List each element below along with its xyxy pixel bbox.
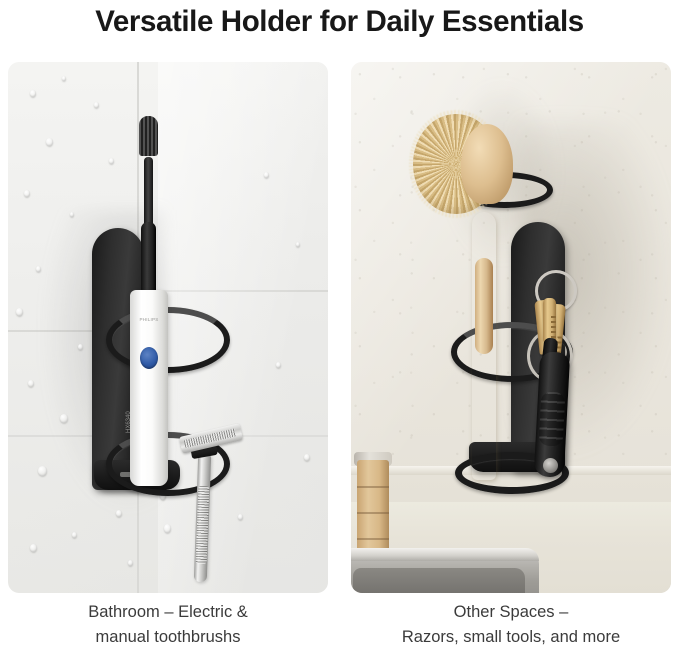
toothbrush-bristles bbox=[139, 116, 158, 156]
water-droplet bbox=[276, 362, 281, 368]
water-droplet bbox=[24, 190, 30, 197]
toothbrush-power-button[interactable] bbox=[140, 347, 158, 369]
water-droplet bbox=[38, 466, 47, 476]
water-droplet bbox=[62, 76, 66, 81]
water-droplet bbox=[94, 102, 99, 108]
water-droplet bbox=[70, 212, 74, 217]
key bbox=[543, 298, 556, 342]
tool-grip-ridges bbox=[539, 391, 566, 446]
caption-bathroom: Bathroom – Electric & manual toothbrushs bbox=[8, 600, 328, 650]
toothbrush-model-label: HX6340 bbox=[126, 411, 132, 433]
water-droplet bbox=[16, 308, 23, 316]
water-droplet bbox=[296, 242, 300, 247]
water-droplet bbox=[28, 380, 34, 387]
water-droplet bbox=[78, 344, 83, 350]
water-droplet bbox=[72, 532, 77, 538]
ring-highlight bbox=[106, 307, 230, 373]
water-droplet bbox=[60, 414, 68, 423]
water-droplet bbox=[164, 524, 171, 533]
water-droplet bbox=[109, 158, 114, 164]
caption-row: Bathroom – Electric & manual toothbrushs… bbox=[0, 600, 679, 658]
sink-basin bbox=[353, 568, 525, 593]
panel-gallery: PHILIPS HX6340 bbox=[0, 62, 679, 593]
brush-head-knob bbox=[461, 124, 513, 204]
brush-handle-waist bbox=[475, 258, 493, 354]
sink-rim bbox=[351, 548, 539, 561]
photo-panel-other-spaces[interactable] bbox=[351, 62, 671, 593]
water-droplet bbox=[30, 544, 37, 552]
toothbrush-brand-label: PHILIPS bbox=[133, 317, 165, 322]
water-droplet bbox=[128, 560, 133, 566]
water-droplet bbox=[30, 90, 36, 97]
water-droplet bbox=[264, 172, 269, 178]
page-title: Versatile Holder for Daily Essentials bbox=[0, 2, 679, 42]
toothbrush-neck bbox=[141, 222, 156, 294]
caption-line-2: manual toothbrushs bbox=[8, 625, 328, 650]
water-droplet bbox=[238, 514, 243, 520]
water-droplet bbox=[36, 266, 41, 272]
water-droplet bbox=[304, 454, 310, 461]
caption-other-spaces: Other Spaces – Razors, small tools, and … bbox=[351, 600, 671, 650]
caption-line-2: Razors, small tools, and more bbox=[351, 625, 671, 650]
caption-line-1: Other Spaces – bbox=[454, 603, 569, 621]
water-droplet bbox=[116, 510, 122, 517]
photo-panel-bathroom[interactable]: PHILIPS HX6340 bbox=[8, 62, 328, 593]
toothbrush-stem bbox=[144, 157, 153, 232]
water-droplet bbox=[46, 138, 53, 146]
caption-line-1: Bathroom – Electric & bbox=[88, 603, 248, 621]
